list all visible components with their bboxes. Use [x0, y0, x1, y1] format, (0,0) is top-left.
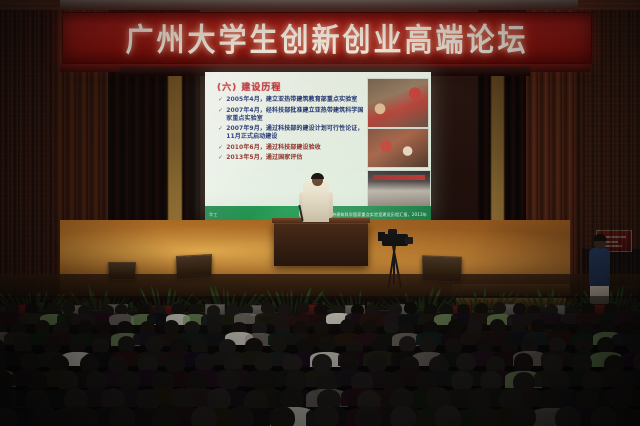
slide-bullet: ✓ 2005年4月，建立亚热带建筑教育部重点实验室 [218, 96, 368, 104]
banner-title: 广州大学生创新创业高端论坛 [125, 16, 528, 61]
audience-head [362, 319, 377, 333]
slide-bullet-text: 2007年4月，经科技部批准建立亚热带建筑科学国家重点实验室 [226, 107, 368, 123]
check-icon: ✓ [218, 125, 223, 141]
slide-bullet-list: ✓ 2005年4月，建立亚热带建筑教育部重点实验室 ✓ 2007年4月，经科技部… [218, 96, 368, 165]
audience-head [165, 355, 185, 373]
slide-bullet-text: 2007年9月，通过科技部的建设计划可行性论证，11月正式启动建设 [226, 125, 368, 141]
audience-head [254, 353, 274, 371]
slide-bullet-text: 2013年5月，通过国家评估 [226, 154, 302, 162]
audience-head [404, 302, 417, 314]
check-icon: ✓ [218, 144, 223, 152]
audience-head [419, 336, 436, 352]
audience-head [118, 336, 135, 352]
audience-head [278, 303, 291, 315]
audience-head [555, 406, 581, 426]
stage-edge [0, 274, 640, 298]
audience-head [207, 388, 231, 410]
audience-head [20, 353, 40, 371]
audience-head [451, 371, 473, 391]
audience-head [514, 353, 534, 371]
photo-laboratory [367, 128, 429, 168]
slide-bullet-text: 2010年6月，通过科技部建设验收 [226, 144, 321, 152]
slide-bullet: ✓ 2007年9月，通过科技部的建设计划可行性论证，11月正式启动建设 [218, 125, 368, 141]
audience-head [72, 407, 98, 426]
audience-head [109, 406, 135, 426]
slide-bullet: ✓ 2010年6月，通过科技部建设验收 [218, 144, 368, 152]
speaker-hair [311, 173, 324, 179]
photo-conference-hall [367, 170, 431, 208]
audience-shoulders [632, 314, 640, 325]
audience-head [191, 406, 217, 426]
check-icon: ✓ [218, 107, 223, 123]
audience-head [313, 405, 339, 426]
audience-head [490, 319, 505, 333]
stage-curtain-left-outer [0, 10, 60, 310]
audience-head [597, 337, 614, 353]
check-icon: ✓ [218, 154, 223, 162]
audience-head [164, 320, 179, 334]
audience-head [390, 406, 416, 426]
camera-viewfinder [388, 229, 397, 235]
audience-head [318, 336, 335, 352]
audience-seating [0, 296, 640, 426]
audience-head [43, 337, 60, 353]
audience-head [78, 320, 93, 334]
audience-head [627, 337, 640, 353]
check-icon: ✓ [218, 96, 223, 104]
speaker-at-podium [303, 182, 329, 222]
slide-bullet: ✓ 2013年5月，通过国家评估 [218, 154, 368, 162]
slide-footer-left-text: 华工 [209, 212, 217, 218]
audience-head [296, 302, 309, 314]
audience-head [31, 405, 57, 426]
audience-head [340, 319, 355, 333]
slide-title: (六) 建设历程 [217, 80, 281, 93]
audience-head [269, 406, 295, 426]
conference-backdrop-band [373, 175, 425, 181]
auditorium-photo: 广州大学生创新创业高端论坛 (六) 建设历程 ✓ 2005年4月，建立亚热带建筑… [0, 0, 640, 426]
audience-head [270, 336, 287, 352]
audience-head [609, 387, 633, 409]
audience-head [575, 337, 592, 353]
audience-head [69, 337, 86, 353]
audience-head [355, 406, 381, 426]
audience-head [312, 354, 332, 372]
led-banner: 广州大学生创新创业高端论坛 [62, 12, 592, 64]
audience-head [46, 303, 59, 315]
audience-head [367, 354, 387, 372]
camera-lens [405, 237, 413, 244]
audience-head [435, 405, 461, 426]
audience-head [493, 302, 506, 314]
standing-attendee-hair [593, 234, 607, 241]
audience-head [195, 353, 215, 371]
audience-head [152, 406, 178, 426]
wooden-lectern [274, 222, 368, 266]
photo-field-visit [367, 78, 429, 128]
slide-bullet: ✓ 2007年4月，经科技部批准建立亚热带建筑科学国家重点实验室 [218, 107, 368, 123]
standing-attendee-right [589, 248, 610, 286]
audience-head [399, 336, 416, 352]
audience-head [510, 405, 536, 426]
slide-bullet-text: 2005年4月，建立亚热带建筑教育部重点实验室 [226, 96, 357, 104]
audience-head [591, 406, 617, 426]
audience-head [456, 353, 476, 371]
